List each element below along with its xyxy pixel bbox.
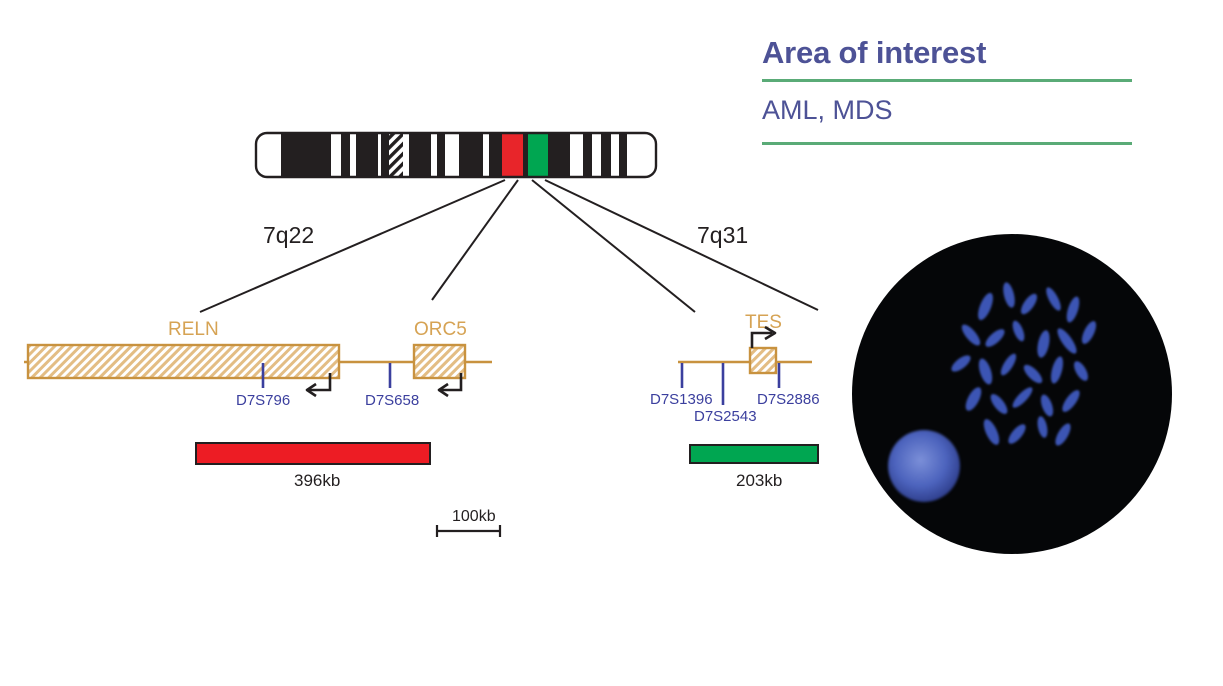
probe-size-red: 396kb bbox=[294, 471, 340, 490]
probe-bar-red-group: 396kb bbox=[196, 443, 430, 490]
scale-bar: 100kb bbox=[437, 508, 500, 537]
microscope-field bbox=[852, 234, 1172, 554]
probe-bar-green-group: 203kb bbox=[690, 445, 818, 490]
marker-label-d7s1396: D7S1396 bbox=[650, 391, 713, 408]
gene-map-7q22: RELN ORC5 D7S796 D7S658 bbox=[24, 319, 492, 409]
figure-root: Area of interest AML, MDS bbox=[0, 0, 1223, 686]
connector-orc5 bbox=[432, 180, 518, 300]
interphase-nucleus bbox=[888, 430, 960, 502]
gene-label-orc5: ORC5 bbox=[414, 319, 467, 340]
gene-map-7q31: TES D7S1396 D7S2543 D7S2886 bbox=[650, 312, 820, 425]
cytoband-label-7q22: 7q22 bbox=[263, 222, 314, 248]
scale-bar-label: 100kb bbox=[452, 508, 496, 525]
probe-size-green: 203kb bbox=[736, 471, 782, 490]
gene-label-tes: TES bbox=[745, 312, 782, 333]
fish-micrograph bbox=[852, 234, 1172, 554]
gene-box-tes bbox=[750, 348, 776, 373]
gene-box-orc5 bbox=[414, 345, 465, 378]
band-highlight-green bbox=[528, 133, 548, 177]
gene-box-reln bbox=[28, 345, 339, 378]
connector-tes bbox=[545, 180, 818, 310]
band-highlight-red bbox=[502, 133, 523, 177]
marker-label-d7s658: D7S658 bbox=[365, 392, 419, 409]
probe-bar-green bbox=[690, 445, 818, 463]
marker-label-d7s2886: D7S2886 bbox=[757, 391, 820, 408]
chromosome-ideogram bbox=[256, 133, 656, 177]
connector-d7s1396 bbox=[532, 180, 695, 312]
cytoband-label-7q31: 7q31 bbox=[697, 222, 748, 248]
probe-bar-red bbox=[196, 443, 430, 464]
gene-label-reln: RELN bbox=[168, 319, 219, 340]
connector-reln bbox=[200, 180, 505, 312]
marker-label-d7s796: D7S796 bbox=[236, 392, 290, 409]
marker-label-d7s2543: D7S2543 bbox=[694, 408, 757, 425]
